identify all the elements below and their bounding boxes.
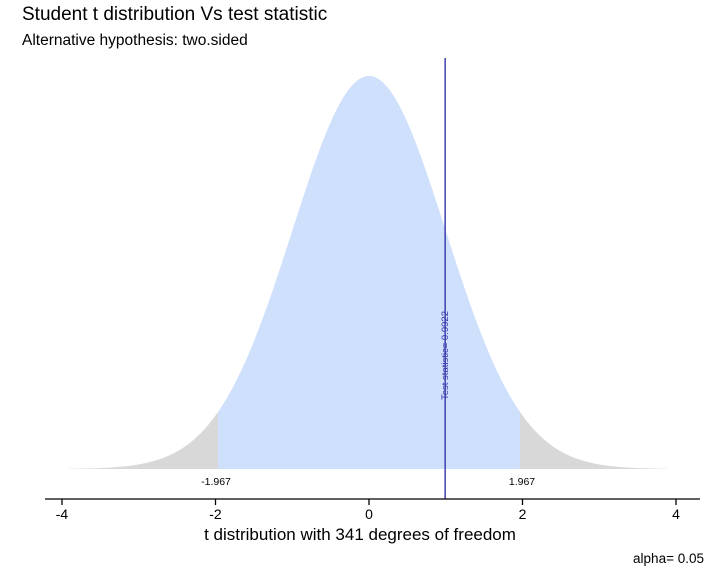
critical-value-low-label: -1.967 xyxy=(201,476,231,488)
plot-canvas xyxy=(0,0,720,576)
acceptance-region-area xyxy=(218,76,520,469)
x-axis-tick-label-2: 0 xyxy=(365,506,373,522)
t-distribution-plot: Student t distribution Vs test statistic… xyxy=(0,0,720,576)
critical-value-high-label: 1.967 xyxy=(509,476,535,488)
distribution-regions xyxy=(68,76,668,469)
x-axis-tick-label-1: -2 xyxy=(209,506,221,522)
rejection-region-right-area xyxy=(520,412,668,469)
x-axis-tick-label-3: 2 xyxy=(519,506,527,522)
test-statistic-label: Test statistic= 0.9922 xyxy=(440,311,451,400)
rejection-region-left-area xyxy=(68,412,218,469)
x-axis-ticks xyxy=(62,499,676,505)
x-axis-tick-label-0: -4 xyxy=(56,506,68,522)
x-axis-tick-label-4: 4 xyxy=(672,506,680,522)
alpha-caption: alpha= 0.05 xyxy=(633,551,704,566)
x-axis-label: t distribution with 341 degrees of freed… xyxy=(0,525,720,545)
x-axis xyxy=(45,499,700,505)
